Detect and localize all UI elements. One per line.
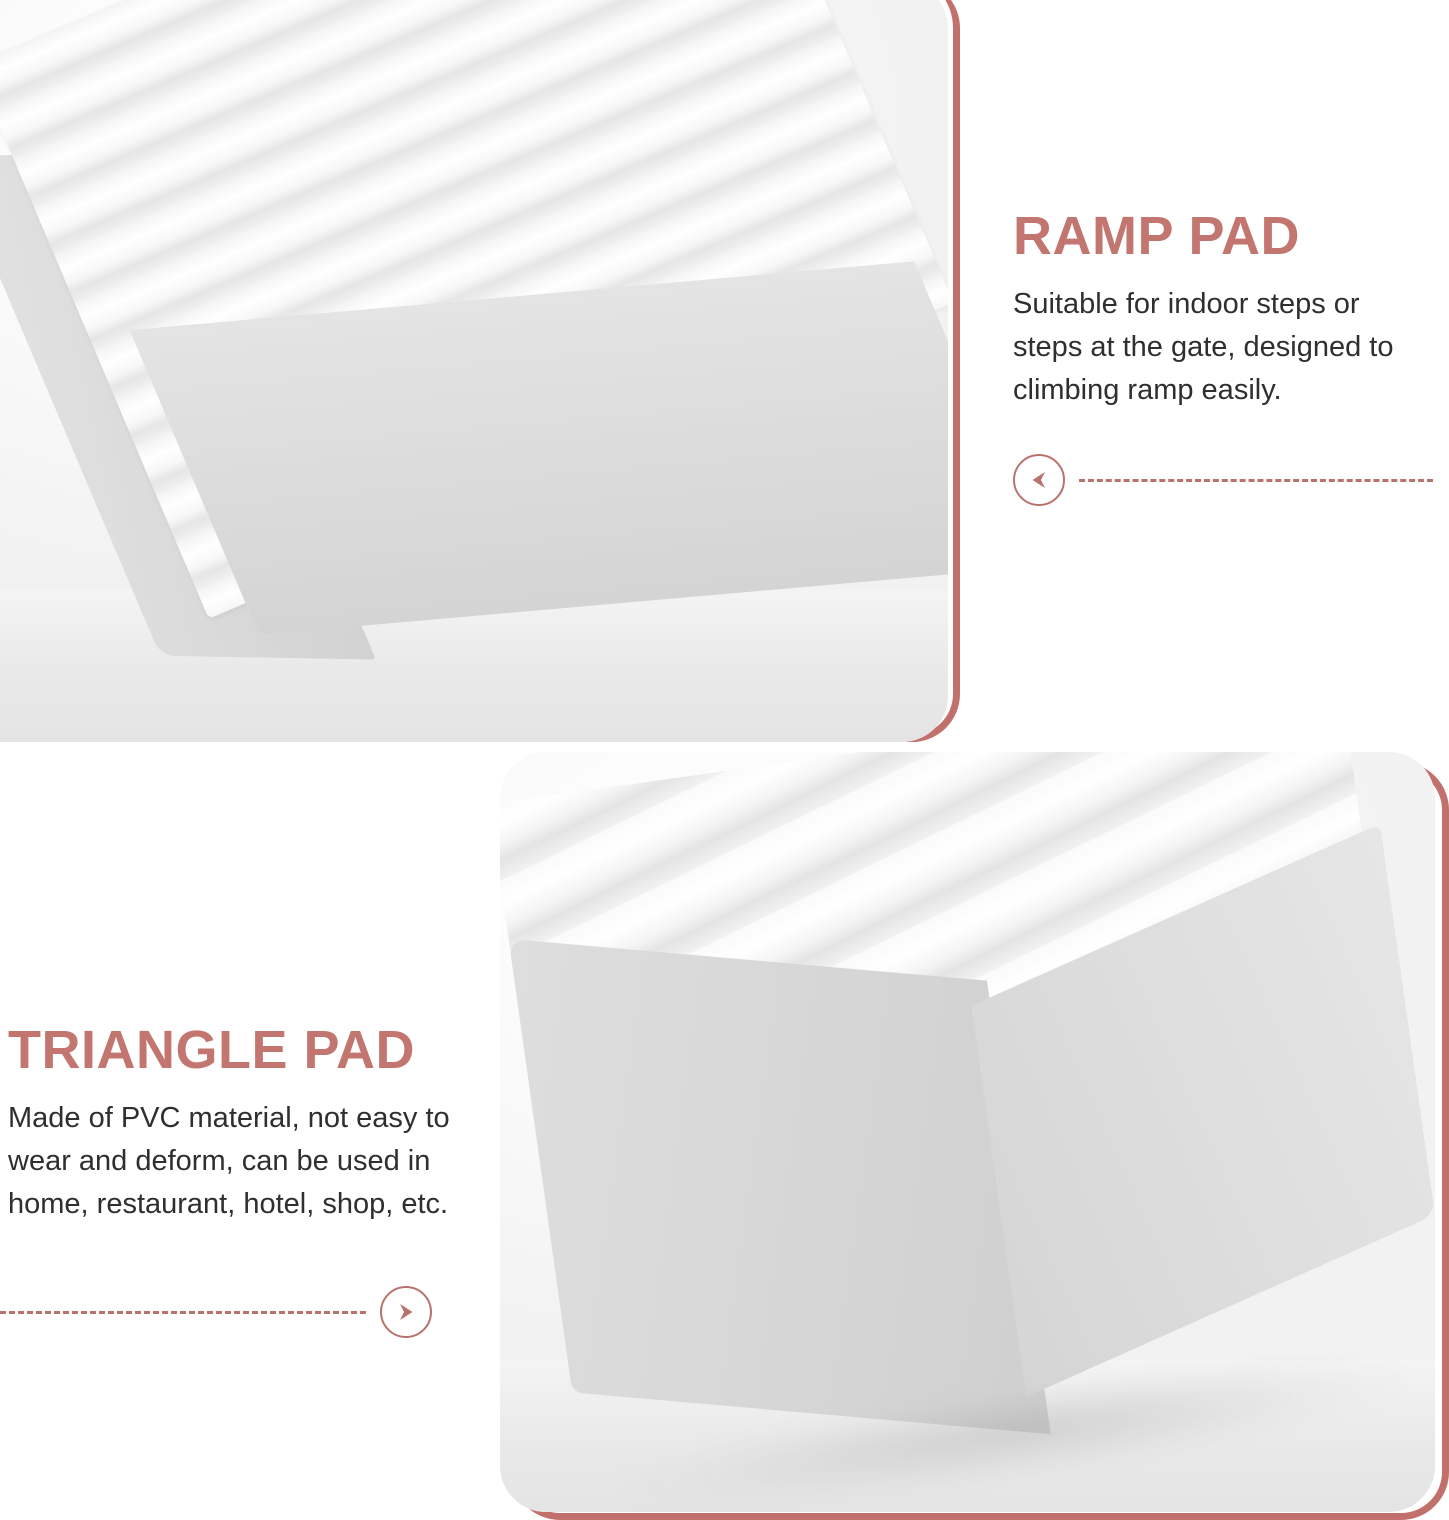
- arrow-left-circle-icon: [1013, 454, 1065, 506]
- ramp-photo-inner: [0, 0, 948, 742]
- triangle-pad-text-block: TRIANGLE PAD Made of PVC material, not e…: [8, 1022, 458, 1225]
- triangle-photo-inner: [500, 752, 1435, 1512]
- triangle-pad-description: Made of PVC material, not easy to wear a…: [8, 1097, 458, 1226]
- ramp-pad-arrow-row: [1013, 452, 1433, 508]
- triangle-pad-heading: TRIANGLE PAD: [8, 1022, 458, 1079]
- triangle-pad-photo: [500, 752, 1435, 1512]
- triangle-pad-arrow-row: [0, 1284, 432, 1340]
- triangle-pad-product: [500, 752, 1435, 1512]
- ramp-pad-heading: RAMP PAD: [1013, 208, 1433, 265]
- ramp-pad-photo: [0, 0, 948, 742]
- dashed-connector-line: [0, 1311, 366, 1314]
- triangle-left-face: [508, 938, 1050, 1434]
- ramp-pad-text-block: RAMP PAD Suitable for indoor steps or st…: [1013, 208, 1433, 411]
- arrow-right-circle-icon: [380, 1286, 432, 1338]
- dashed-connector-line: [1079, 479, 1433, 482]
- ramp-pad-description: Suitable for indoor steps or steps at th…: [1013, 283, 1433, 412]
